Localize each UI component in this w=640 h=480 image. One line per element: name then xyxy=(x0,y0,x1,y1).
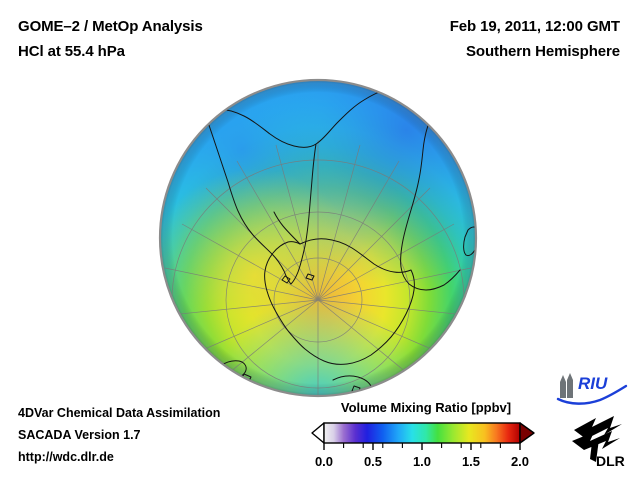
header-left: GOME–2 / MetOp Analysis HCl at 55.4 hPa xyxy=(18,14,203,64)
colorbar-tick-label: 1.5 xyxy=(462,454,480,469)
hemisphere-label: Southern Hemisphere xyxy=(450,39,620,64)
riu-wordmark: RIU xyxy=(578,374,608,393)
colorbar-tick-labels: 0.0 0.5 1.0 1.5 2.0 xyxy=(315,454,529,469)
dlr-wordmark: DLR xyxy=(596,453,625,468)
colorbar-over-arrow xyxy=(520,423,534,443)
colorbar-major-ticks xyxy=(324,443,520,450)
colorbar-tick-label: 0.0 xyxy=(315,454,333,469)
page-title: GOME–2 / MetOp Analysis xyxy=(18,14,203,39)
globe-map xyxy=(158,78,478,398)
figure-canvas: GOME–2 / MetOp Analysis HCl at 55.4 hPa … xyxy=(0,0,640,480)
footer-credits: 4DVar Chemical Data Assimilation SACADA … xyxy=(18,402,220,468)
colorbar: Volume Mixing Ratio [ppbv] xyxy=(310,400,538,473)
colorbar-tick-label: 0.5 xyxy=(364,454,382,469)
colorbar-under-arrow xyxy=(312,423,324,443)
footer-method: 4DVar Chemical Data Assimilation xyxy=(18,402,220,424)
colorbar-title: Volume Mixing Ratio [ppbv] xyxy=(314,400,538,416)
footer-version: SACADA Version 1.7 xyxy=(18,424,220,446)
page-subtitle: HCl at 55.4 hPa xyxy=(18,39,203,64)
colorbar-tick-label: 2.0 xyxy=(511,454,529,469)
colorbar-svg: 0.0 0.5 1.0 1.5 2.0 xyxy=(310,421,538,473)
footer-url[interactable]: http://wdc.dlr.de xyxy=(18,446,220,468)
riu-logo-svg: RIU xyxy=(556,372,630,406)
riu-towers-icon xyxy=(560,373,573,398)
dlr-logo-svg: DLR xyxy=(566,412,628,468)
colorbar-gradient xyxy=(324,423,520,443)
riu-logo: RIU xyxy=(556,372,630,411)
timestamp-label: Feb 19, 2011, 12:00 GMT xyxy=(450,14,620,39)
orthographic-projection-svg xyxy=(158,78,478,398)
header-right: Feb 19, 2011, 12:00 GMT Southern Hemisph… xyxy=(450,14,620,64)
colorbar-tick-label: 1.0 xyxy=(413,454,431,469)
dlr-logo: DLR xyxy=(566,412,628,473)
